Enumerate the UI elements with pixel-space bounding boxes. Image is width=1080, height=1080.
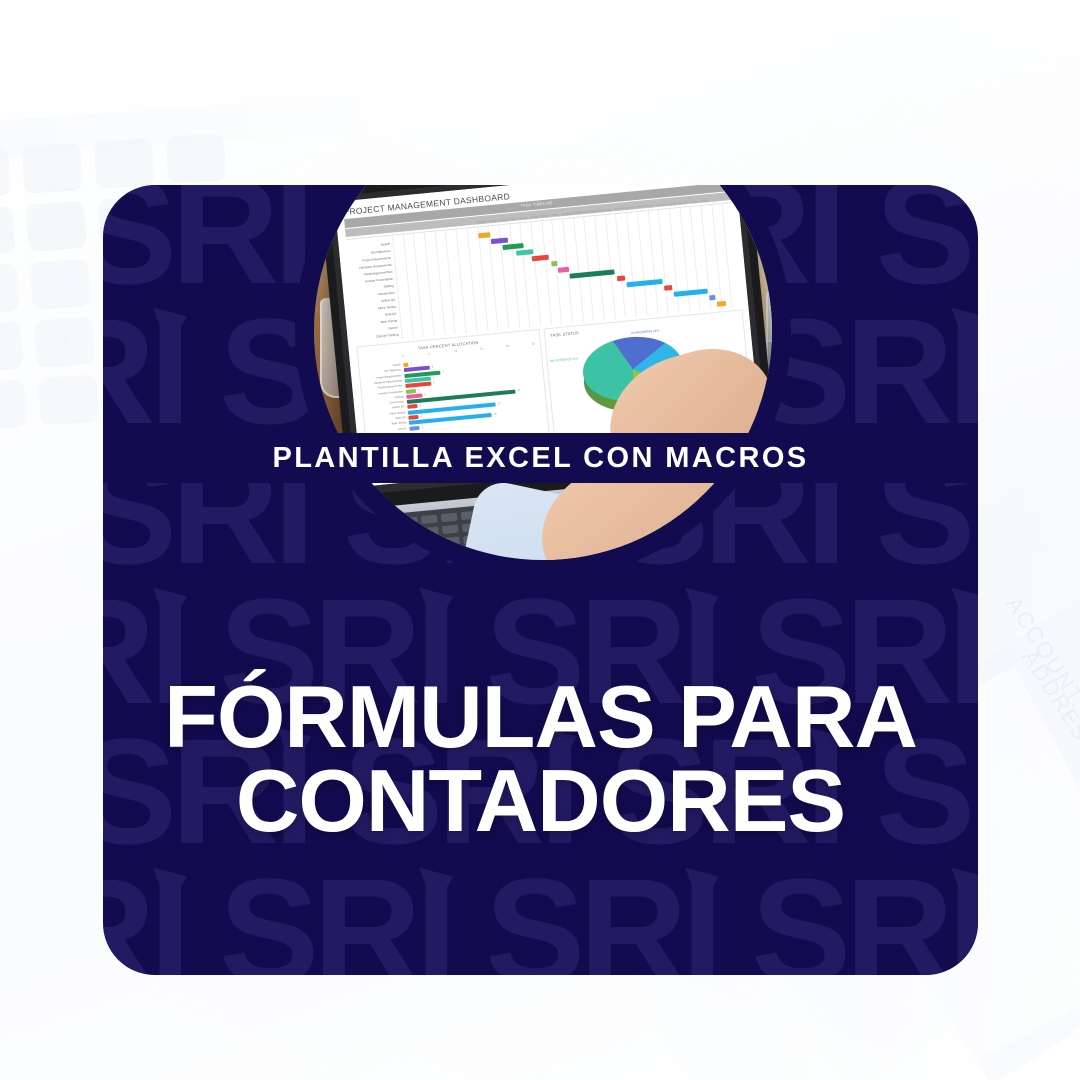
gantt-date-tick: 22-Mar [487, 219, 497, 224]
keyboard-key [403, 540, 420, 549]
gantt-task-bar [491, 237, 508, 243]
bar-chart-value: 16 [494, 413, 497, 416]
gantt-gridline [679, 208, 689, 312]
gantt-task-bar [516, 249, 533, 255]
watermark-row: SRISRISRISRI [103, 867, 978, 975]
gantt-gridline [466, 228, 476, 332]
laptop-photo: PROJECT MANAGEMENT DASHBOARD TASK TIMELI… [314, 185, 772, 560]
gantt-gridline [509, 224, 519, 328]
gantt-date-tick: 9-Aug [700, 198, 708, 203]
bar-chart-value: 5 [432, 366, 434, 369]
watermark-accent-icon [951, 585, 978, 629]
gantt-gridline [658, 210, 668, 314]
bar-chart-bar [406, 388, 417, 393]
watermark-accent-icon [277, 185, 311, 209]
gantt-gridline [637, 212, 647, 316]
watermark-accent-icon [153, 585, 187, 629]
gantt-gridline [530, 222, 540, 326]
watermark-sri-text: SRI [751, 867, 978, 975]
gantt-date-tick: 5-Jul [647, 203, 654, 208]
gantt-date-tick: 10-May [561, 211, 571, 216]
circular-photo-medallion: PROJECT MANAGEMENT DASHBOARD TASK TIMELI… [295, 185, 791, 579]
watermark-sri-text: SRI [103, 307, 185, 436]
main-card: SRISRISRISRISRISRISRISRISRISRISRISRISRIS… [103, 185, 978, 975]
bar-chart-axis-tick: 25 [532, 342, 535, 345]
watermark-accent-icon [951, 865, 978, 909]
gantt-date-tick: 12-Jul [657, 202, 666, 207]
gantt-date-tick: 19-Apr [530, 214, 539, 219]
gantt-gridline [615, 214, 625, 318]
gantt-date-tick: 15-Mar [476, 220, 486, 225]
bar-chart-bar [403, 363, 409, 367]
gantt-gridline [541, 221, 551, 325]
watermark-accent-icon [809, 185, 843, 209]
gantt-date-tick: 26-Apr [540, 213, 549, 218]
bar-chart-value: 1 [410, 362, 412, 365]
keyboard-key [381, 518, 398, 527]
keyboard-key [422, 527, 439, 536]
gantt-gridline [456, 229, 466, 333]
watermark-sri-text: SRI [485, 867, 717, 975]
bar-chart-value: 7 [442, 370, 444, 373]
gantt-gridline [434, 231, 444, 335]
gantt-task-bar [551, 261, 558, 266]
gantt-date-tick: 31-May [593, 208, 603, 213]
bar-chart-value: 21 [517, 389, 520, 392]
gantt-date-tick: 7-Jun [604, 207, 612, 212]
gantt-task-bar [617, 276, 625, 281]
gantt-date-tick: 19-Jul [668, 201, 677, 206]
bar-chart-value: 2 [418, 388, 420, 391]
keyboard-key [443, 537, 460, 546]
keyboard-key [382, 530, 399, 539]
gantt-gridline [690, 207, 700, 311]
gantt-task-bar [664, 285, 672, 290]
gantt-task-bar [709, 295, 716, 300]
watermark-sri-text: SRI [103, 185, 309, 296]
gantt-gridline [700, 206, 710, 310]
watermark-accent-icon [951, 305, 978, 349]
gantt-gridline [711, 205, 721, 309]
keyboard-key [402, 528, 419, 537]
gantt-date-tick: 28-Jun [636, 204, 646, 209]
bar-chart-value: 3 [424, 393, 426, 396]
title-line-2: CONTADORES [103, 759, 978, 843]
keyboard-key [441, 513, 458, 522]
gantt-gridline [722, 204, 732, 308]
gantt-date-tick: 26-Jul [679, 200, 688, 205]
keyboard-key [423, 538, 440, 547]
bar-chart-axis-tick: 5 [428, 353, 430, 356]
gantt-date-tick: 24-May [583, 209, 593, 214]
bar-chart-bar [408, 415, 419, 420]
keyboard-key [442, 525, 459, 534]
bar-chart-bar [409, 425, 420, 430]
gantt-gridline [573, 218, 583, 322]
watermark-accent-icon [153, 865, 187, 909]
gantt-date-tick: 5-Apr [508, 217, 516, 222]
bar-chart-axis-tick: 0 [402, 355, 404, 358]
gantt-task-label: Cutover/Tracking [354, 332, 398, 340]
bar-chart-value: 2 [421, 415, 423, 418]
gantt-task-bar [717, 301, 726, 306]
page-title: FÓRMULAS PARA CONTADORES [103, 675, 978, 844]
bar-chart-value: 2 [422, 425, 424, 428]
gantt-gridline [477, 227, 487, 331]
gantt-gridline [626, 213, 636, 317]
bar-chart-value: 17 [498, 402, 501, 405]
gantt-gridline [520, 223, 530, 327]
gantt-date-tick: 3-May [551, 212, 560, 217]
bar-chart-axis-tick: 10 [454, 350, 457, 353]
watermark-accent-icon [419, 585, 453, 629]
gantt-gridline [424, 232, 434, 336]
gantt-date-tick: 21-Jun [625, 205, 635, 210]
watermark-sri-text: SRI [219, 867, 451, 975]
gantt-gridline [413, 234, 423, 338]
bar-chart-title: TASK PERCENT ALLOCATION [418, 340, 479, 351]
gantt-task-bar [673, 289, 707, 297]
pie-chart-title: TASK STATUS [550, 330, 579, 338]
gantt-gridline [605, 215, 615, 319]
bar-chart-value: 5 [433, 381, 435, 384]
bar-chart-axis-tick: 20 [506, 345, 509, 348]
watermark-sri-text: SRI [875, 185, 978, 296]
gantt-task-bar [531, 255, 548, 261]
keyboard-key [383, 542, 400, 551]
gantt-date-tick: 12-Apr [519, 215, 528, 220]
gantt-gridline [669, 209, 679, 313]
pie-chart-label: ON SCHEDULE 41% [550, 356, 579, 363]
gantt-task-bar [570, 269, 615, 278]
gantt-gridline [647, 211, 657, 315]
keyboard-key [401, 516, 418, 525]
gantt-gridline [583, 217, 593, 321]
bar-chart-value: 5 [433, 376, 435, 379]
gantt-date-tick: 2-Aug [689, 199, 697, 204]
poster-canvas: ×÷+- ACCOUNT: ADDRESS SRISRISRISRISRISRI… [0, 0, 1080, 1080]
gantt-task-bar [502, 243, 524, 250]
gantt-gridline [594, 216, 604, 320]
subtitle-band: PLANTILLA EXCEL CON MACROS [103, 433, 978, 483]
gantt-gridline [445, 230, 455, 334]
watermark-sri-text: SRI [103, 867, 185, 975]
bar-chart-axis-tick: 15 [480, 347, 483, 350]
watermark-accent-icon [419, 865, 453, 909]
bar-chart-value: 2 [420, 404, 422, 407]
bar-chart-bar [407, 404, 418, 409]
watermark-accent-icon [153, 305, 187, 349]
watermark-accent-icon [685, 865, 719, 909]
gantt-date-tick: 17-May [572, 210, 582, 215]
watermark-accent-icon [685, 585, 719, 629]
gantt-gridline [403, 235, 413, 339]
gantt-date-tick: 29-Mar [498, 217, 508, 222]
gantt-date-tick: 14-Jun [615, 206, 625, 211]
keyboard-key [421, 515, 438, 524]
subtitle-text: PLANTILLA EXCEL CON MACROS [272, 442, 808, 475]
